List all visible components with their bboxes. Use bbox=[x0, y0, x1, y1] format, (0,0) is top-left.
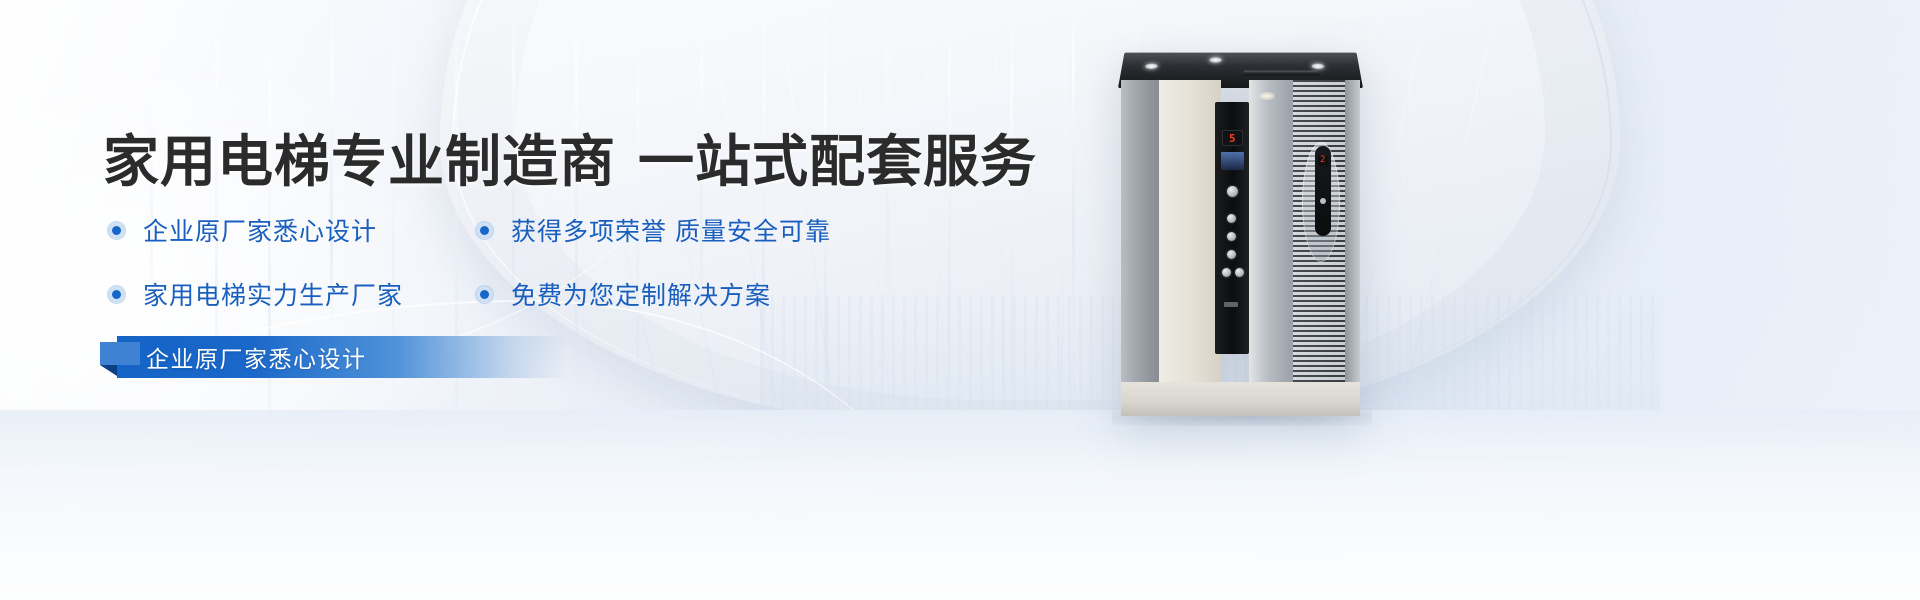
elevator-interior: 5 2 bbox=[1121, 80, 1360, 416]
feature-item-2: 获得多项荣誉 质量安全可靠 bbox=[476, 212, 831, 248]
feature-item-3: 家用电梯实力生产厂家 bbox=[108, 276, 476, 312]
ceiling-downlight-icon bbox=[1311, 63, 1324, 69]
control-panel-label-plate bbox=[1224, 302, 1238, 307]
ceiling-downlight-icon bbox=[1145, 63, 1158, 69]
feature-label-4: 免费为您定制解决方案 bbox=[511, 276, 771, 312]
elevator-rear-mirror-wall: 2 bbox=[1293, 80, 1345, 416]
feature-label-3: 家用电梯实力生产厂家 bbox=[143, 276, 403, 312]
ceiling-downlight-icon bbox=[1209, 57, 1222, 62]
feature-row-1: 企业原厂家悉心设计 获得多项荣誉 质量安全可靠 bbox=[108, 212, 948, 248]
elevator-floor bbox=[1121, 382, 1360, 416]
elevator-button-floor bbox=[1227, 250, 1236, 259]
ribbon-label: 企业原厂家悉心设计 bbox=[146, 340, 367, 374]
wall-light-reflection bbox=[1259, 92, 1275, 100]
promo-banner: 家用电梯专业制造商一站式配套服务 企业原厂家悉心设计 获得多项荣誉 质量安全可靠… bbox=[0, 0, 1920, 600]
elevator-button-door-open bbox=[1222, 268, 1231, 277]
feature-row-2: 家用电梯实力生产厂家 免费为您定制解决方案 bbox=[108, 276, 948, 312]
feature-item-4: 免费为您定制解决方案 bbox=[476, 276, 771, 312]
floor-indicator-display: 5 bbox=[1222, 130, 1243, 146]
elevator-secondary-control-panel: 2 bbox=[1315, 146, 1331, 236]
floor-indicator-value: 5 bbox=[1229, 133, 1236, 145]
ceiling-vent-slot bbox=[1244, 71, 1319, 76]
banner-content: 家用电梯专业制造商一站式配套服务 企业原厂家悉心设计 获得多项荣誉 质量安全可靠… bbox=[0, 0, 1120, 600]
bullet-dot-icon bbox=[476, 286, 493, 303]
elevator-side-wall bbox=[1249, 80, 1293, 416]
feature-label-1: 企业原厂家悉心设计 bbox=[143, 212, 377, 248]
elevator-button-floor bbox=[1227, 214, 1236, 223]
feature-item-1: 企业原厂家悉心设计 bbox=[108, 212, 476, 248]
ribbon-fold-icon bbox=[100, 365, 117, 376]
rear-floor-indicator-value: 2 bbox=[1320, 155, 1325, 165]
highlight-ribbon[interactable]: 企业原厂家悉心设计 bbox=[117, 336, 567, 378]
control-panel-brand-plate bbox=[1221, 152, 1244, 170]
elevator-right-frame bbox=[1345, 80, 1360, 416]
page-title: 家用电梯专业制造商一站式配套服务 bbox=[103, 117, 1037, 198]
rear-elevator-button bbox=[1320, 198, 1326, 204]
elevator-cabin-image: 5 2 bbox=[1118, 44, 1363, 416]
headline-part-2: 一站式配套服务 bbox=[638, 130, 1037, 193]
elevator-left-frame bbox=[1121, 80, 1159, 416]
feature-label-2: 获得多项荣誉 质量安全可靠 bbox=[511, 212, 831, 248]
elevator-button-main bbox=[1227, 186, 1238, 197]
elevator-button-floor bbox=[1227, 232, 1236, 241]
bullet-dot-icon bbox=[108, 222, 125, 239]
rear-floor-indicator: 2 bbox=[1318, 156, 1328, 166]
bullet-dot-icon bbox=[476, 222, 493, 239]
feature-list: 企业原厂家悉心设计 获得多项荣誉 质量安全可靠 家用电梯实力生产厂家 免费为您定… bbox=[108, 212, 948, 340]
bullet-dot-icon bbox=[108, 286, 125, 303]
headline-part-1: 家用电梯专业制造商 bbox=[103, 130, 616, 193]
elevator-cream-door-panel bbox=[1159, 80, 1221, 416]
elevator-control-panel: 5 bbox=[1215, 102, 1249, 354]
elevator-button-door-close bbox=[1235, 268, 1244, 277]
ribbon-tab-icon bbox=[100, 342, 140, 365]
